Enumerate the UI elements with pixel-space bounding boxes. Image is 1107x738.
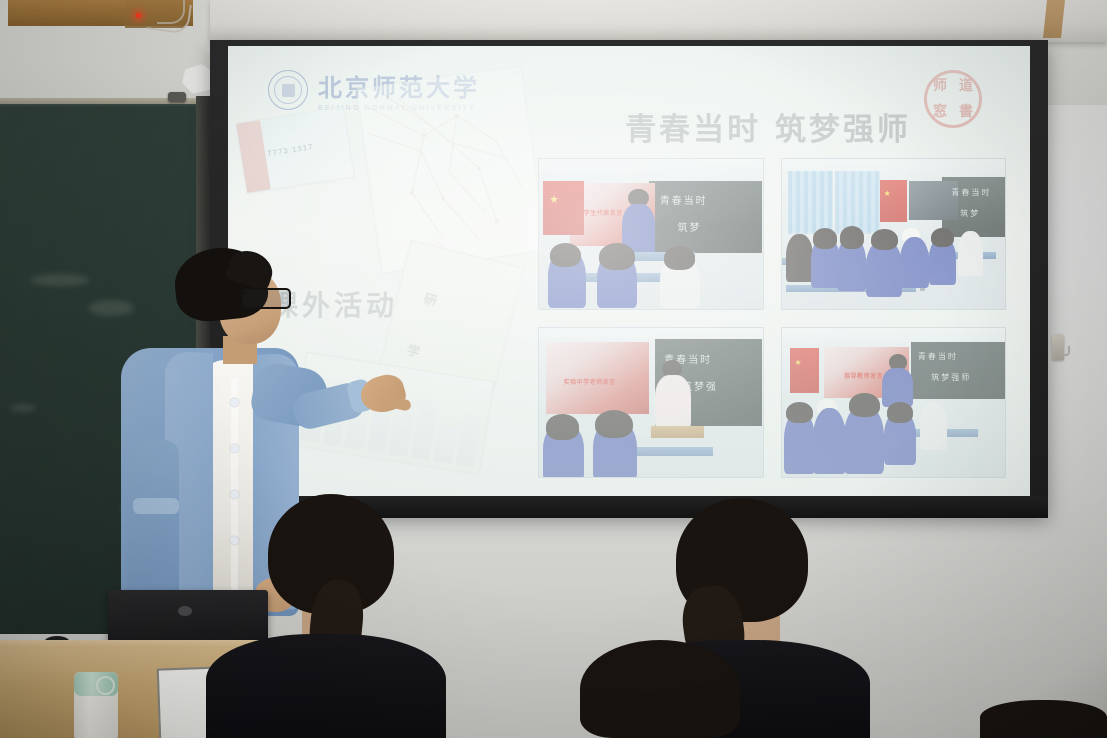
slide-title: 青春当时 筑梦强师 (558, 104, 978, 149)
slide-photo-bottom-left: 实验中学老师发言 青春当时 筑梦强 (538, 327, 764, 479)
audience-torso (206, 634, 446, 738)
seal-char-2: 道 (959, 79, 973, 93)
slide-photo-top-right: 青春当时 筑梦 (781, 158, 1007, 310)
seal-char-1: 师 (933, 79, 947, 93)
photo-1-blackboard-line-2: 筑梦 (678, 219, 702, 234)
photo-4-blackboard-line-1: 青春当时 (918, 351, 958, 362)
photo-1-caption: 学生代表发言 (584, 208, 623, 217)
ghost-ticket-photo: 7773 1317 (235, 106, 355, 194)
photo-2-blackboard-line-1: 青春当时 (951, 187, 991, 198)
chalkboard-eraser (168, 92, 186, 102)
red-indicator-led-icon (136, 13, 141, 18)
ghost-map-photo (356, 65, 547, 273)
classroom-presentation-scene: WINDOW 北京师范大学 BEIJING NORMAL UNIVERSITY (0, 0, 1107, 738)
photo-4-blackboard-line-2: 筑梦强师 (931, 372, 971, 383)
screen-frame[interactable]: 北京师范大学 BEIJING NORMAL UNIVERSITY 师 道 窓 書… (210, 40, 1048, 515)
laptop-lid-logo-icon (178, 606, 192, 616)
photo-4-caption: 指导教师发言 (844, 371, 883, 380)
photo-1-blackboard-line-1: 青春当时 (660, 192, 708, 207)
thermos-cap (74, 672, 118, 696)
audience-hair (980, 700, 1107, 738)
slide-photo-bottom-right: 指导教师发言 青春当时 筑梦强师 (781, 327, 1007, 479)
ghost-fan-char-1: 研 (422, 288, 439, 310)
screen-housing[interactable]: WINDOW (210, 0, 1107, 42)
audience-member-front-lower (560, 640, 770, 738)
slide-photo-top-left: 学生代表发言 青春当时 筑梦 (538, 158, 764, 310)
map-lines-icon (357, 66, 546, 272)
presenter-rolled-cuff-left (133, 498, 179, 514)
wall-hook-icon (1052, 334, 1064, 360)
photo-2-blackboard-line-2: 筑梦 (960, 208, 980, 219)
audience-member-front-right (980, 700, 1107, 738)
pull-down-projection-screen[interactable]: 北京师范大学 BEIJING NORMAL UNIVERSITY 师 道 窓 書… (228, 46, 1030, 501)
audience-member-front-left (206, 494, 446, 738)
presentation-slide: 北京师范大学 BEIJING NORMAL UNIVERSITY 师 道 窓 書… (228, 46, 1030, 501)
ghost-ticket-code: 7773 1317 (267, 142, 315, 158)
presenter-eyeglasses-icon (241, 288, 291, 309)
photo-3-caption: 实验中学老师发言 (564, 377, 616, 386)
slide-photo-grid: 学生代表发言 青春当时 筑梦 (538, 158, 1006, 478)
audience-hair (580, 640, 740, 738)
ghost-fan-char-2: 学 (405, 339, 422, 361)
